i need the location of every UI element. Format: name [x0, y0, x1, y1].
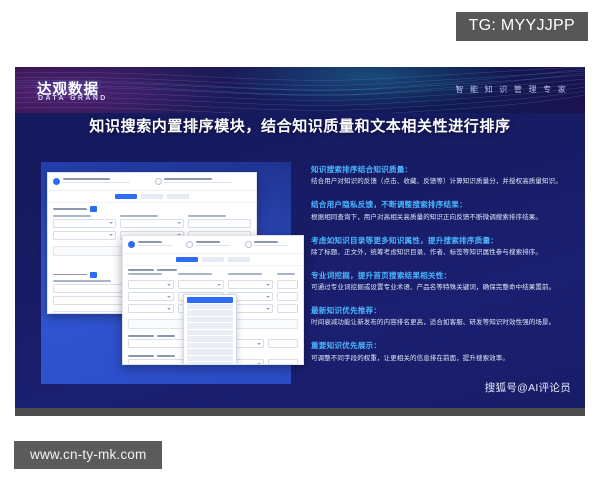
feature-heading: 专业词挖掘，提升首页搜索结果相关性： [311, 271, 569, 280]
window-b-tab-bar[interactable] [123, 254, 303, 266]
dropdown-option[interactable] [187, 304, 233, 310]
feature-point: 考虑如知识目录等更多知识属性，提升搜索排序质量： 除了标题、正文外，统筹考虑知识… [311, 236, 569, 258]
section-badge [90, 206, 97, 212]
slide-header-band: 达观数据 DATA GRAND 智 能 知 识 管 理 专 家 [15, 67, 585, 113]
slide-title: 知识搜索内置排序模块，结合知识质量和文本相关性进行排序 [15, 115, 585, 136]
feature-body: 结合用户对知识的反馈（点击、收藏、反馈等）计算知识质量分，并授权高质量知识。 [311, 178, 569, 187]
step-label-lines [138, 241, 182, 247]
dropdown-option[interactable] [187, 323, 233, 329]
step-label-lines [254, 241, 298, 247]
step-indicator-1 [53, 178, 150, 185]
step-dot-icon [128, 241, 135, 248]
step-dot-icon [155, 178, 162, 185]
weight-field[interactable] [268, 339, 298, 348]
brand-name-en: DATA GRAND [38, 95, 108, 102]
step-dot-icon [245, 241, 252, 248]
weight-field[interactable] [277, 292, 298, 301]
window-a-tab-bar[interactable] [48, 191, 256, 203]
feature-body: 可通过专业词挖掘或设置专业术语、产品名等特殊关键词，确保完整命中结果置前。 [311, 284, 569, 293]
section-header [53, 206, 251, 212]
weight-field[interactable] [277, 304, 298, 313]
feature-body: 除了标题、正文外，统筹考虑知识目录、作者、标签等知识属性参与搜索排序。 [311, 249, 569, 258]
step-label-lines [196, 241, 240, 247]
tab-item[interactable] [141, 194, 163, 199]
select-field[interactable] [53, 231, 116, 240]
step-dot-icon [53, 178, 60, 185]
presentation-slide: 达观数据 DATA GRAND 智 能 知 识 管 理 专 家 知识搜索内置排序… [15, 67, 585, 408]
feature-points-column: 知识搜索排序结合知识质量： 结合用户对知识的反馈（点击、收藏、反馈等）计算知识质… [311, 165, 569, 377]
feature-point: 最新知识优先推荐： 时间衰减功能让新发布的内容排名更高，适合如客服、研发等知识时… [311, 306, 569, 328]
tab-item[interactable] [228, 257, 250, 262]
dropdown-option-selected[interactable] [187, 297, 233, 303]
step-label-lines [164, 178, 251, 184]
select-field[interactable] [53, 219, 116, 228]
feature-heading: 知识搜索排序结合知识质量： [311, 165, 569, 174]
step-indicator-1 [128, 241, 181, 248]
rule-header-row [128, 273, 298, 277]
step-indicator-2 [186, 241, 239, 248]
window-a-topbar [48, 173, 256, 191]
step-indicator-3 [245, 241, 298, 248]
feature-body: 时间衰减功能让新发布的内容排名更高，适合如客服、研发等知识时效性强的场景。 [311, 319, 569, 328]
feature-point: 专业词挖掘，提升首页搜索结果相关性： 可通过专业词挖掘或设置专业术语、产品名等特… [311, 271, 569, 293]
field-row [53, 215, 251, 228]
select-field[interactable] [128, 280, 174, 289]
select-field[interactable] [120, 219, 183, 228]
dropdown-option[interactable] [187, 317, 233, 323]
tab-item[interactable] [202, 257, 224, 262]
weight-field[interactable] [268, 359, 298, 365]
weight-field[interactable] [277, 280, 298, 289]
slide-bottom-bar [15, 408, 585, 416]
step-indicator-2 [155, 178, 252, 185]
window-b-topbar [123, 236, 303, 254]
dropdown-option[interactable] [187, 310, 233, 316]
search-ranking-rules-window[interactable] [122, 235, 304, 365]
dropdown-option[interactable] [187, 356, 233, 362]
tab-item[interactable] [115, 194, 137, 199]
feature-point: 重要知识优先展示： 可调整不同字段的权重，让更相关的信息排在前面，提升搜索效率。 [311, 341, 569, 363]
section-badge [90, 272, 97, 278]
dropdown-option[interactable] [187, 330, 233, 336]
feature-point: 结合用户隐私反馈，不断调整搜索排序结果： 根据相同查询下，用户对高相关高质量的知… [311, 200, 569, 222]
select-field[interactable] [178, 280, 224, 289]
brand-tagline: 智 能 知 识 管 理 专 家 [455, 84, 568, 95]
select-field[interactable] [228, 280, 274, 289]
feature-body: 可调整不同字段的权重，让更相关的信息排在前面，提升搜索效率。 [311, 355, 569, 364]
section-header [128, 269, 298, 271]
feature-heading: 考虑如知识目录等更多知识属性，提升搜索排序质量： [311, 236, 569, 245]
select-field[interactable] [128, 304, 174, 313]
feature-point: 知识搜索排序结合知识质量： 结合用户对知识的反馈（点击、收藏、反馈等）计算知识质… [311, 165, 569, 187]
dropdown-option[interactable] [187, 343, 233, 349]
step-label-lines [63, 178, 150, 184]
tab-item[interactable] [167, 194, 189, 199]
dropdown-option[interactable] [187, 349, 233, 355]
feature-heading: 重要知识优先展示： [311, 341, 569, 350]
select-field[interactable] [128, 292, 174, 301]
site-url-badge: www.cn-ty-mk.com [14, 441, 162, 469]
feature-heading: 结合用户隐私反馈，不断调整搜索排序结果： [311, 200, 569, 209]
step-dot-icon [186, 241, 193, 248]
tab-item[interactable] [176, 257, 198, 262]
tg-watermark-badge: TG: MYYJJPP [456, 12, 588, 41]
dropdown-option[interactable] [187, 336, 233, 342]
sohu-watermark: 搜狐号@AI评论员 [485, 380, 571, 395]
feature-body: 根据相同查询下，用户对高相关高质量的知识正向反馈不断微调搜索排序结果。 [311, 214, 569, 223]
field-dropdown-menu[interactable] [183, 294, 237, 365]
feature-heading: 最新知识优先推荐： [311, 306, 569, 315]
text-field[interactable] [188, 219, 251, 228]
rule-row [128, 280, 298, 289]
